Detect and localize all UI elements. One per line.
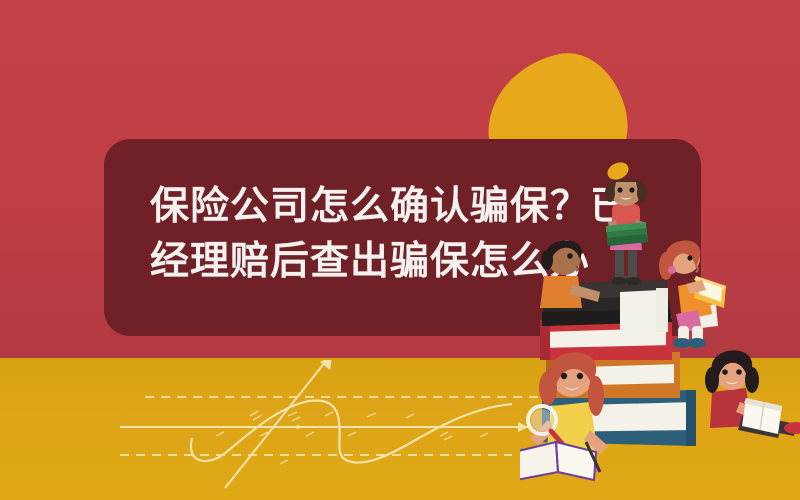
math-function-graph-decoration bbox=[120, 360, 540, 490]
side-book-right bbox=[620, 288, 668, 332]
green-book-held bbox=[606, 222, 648, 246]
graph-tick-marks bbox=[216, 411, 488, 464]
children-reading-illustration bbox=[520, 180, 800, 500]
poster-canvas: 保险公司怎么确认骗保？已 经理赔后查出骗保怎么办 bbox=[0, 0, 800, 500]
boy-reading-on-floor bbox=[705, 350, 800, 438]
graph-origin-point bbox=[296, 425, 300, 429]
graph-diagonal-line bbox=[225, 360, 330, 488]
boy-orange-shirt-leaning bbox=[540, 240, 600, 308]
girl-standing-with-green-book bbox=[605, 180, 648, 285]
graph-wave-curve bbox=[191, 400, 512, 462]
reading-girl-hair-tie bbox=[668, 266, 676, 274]
